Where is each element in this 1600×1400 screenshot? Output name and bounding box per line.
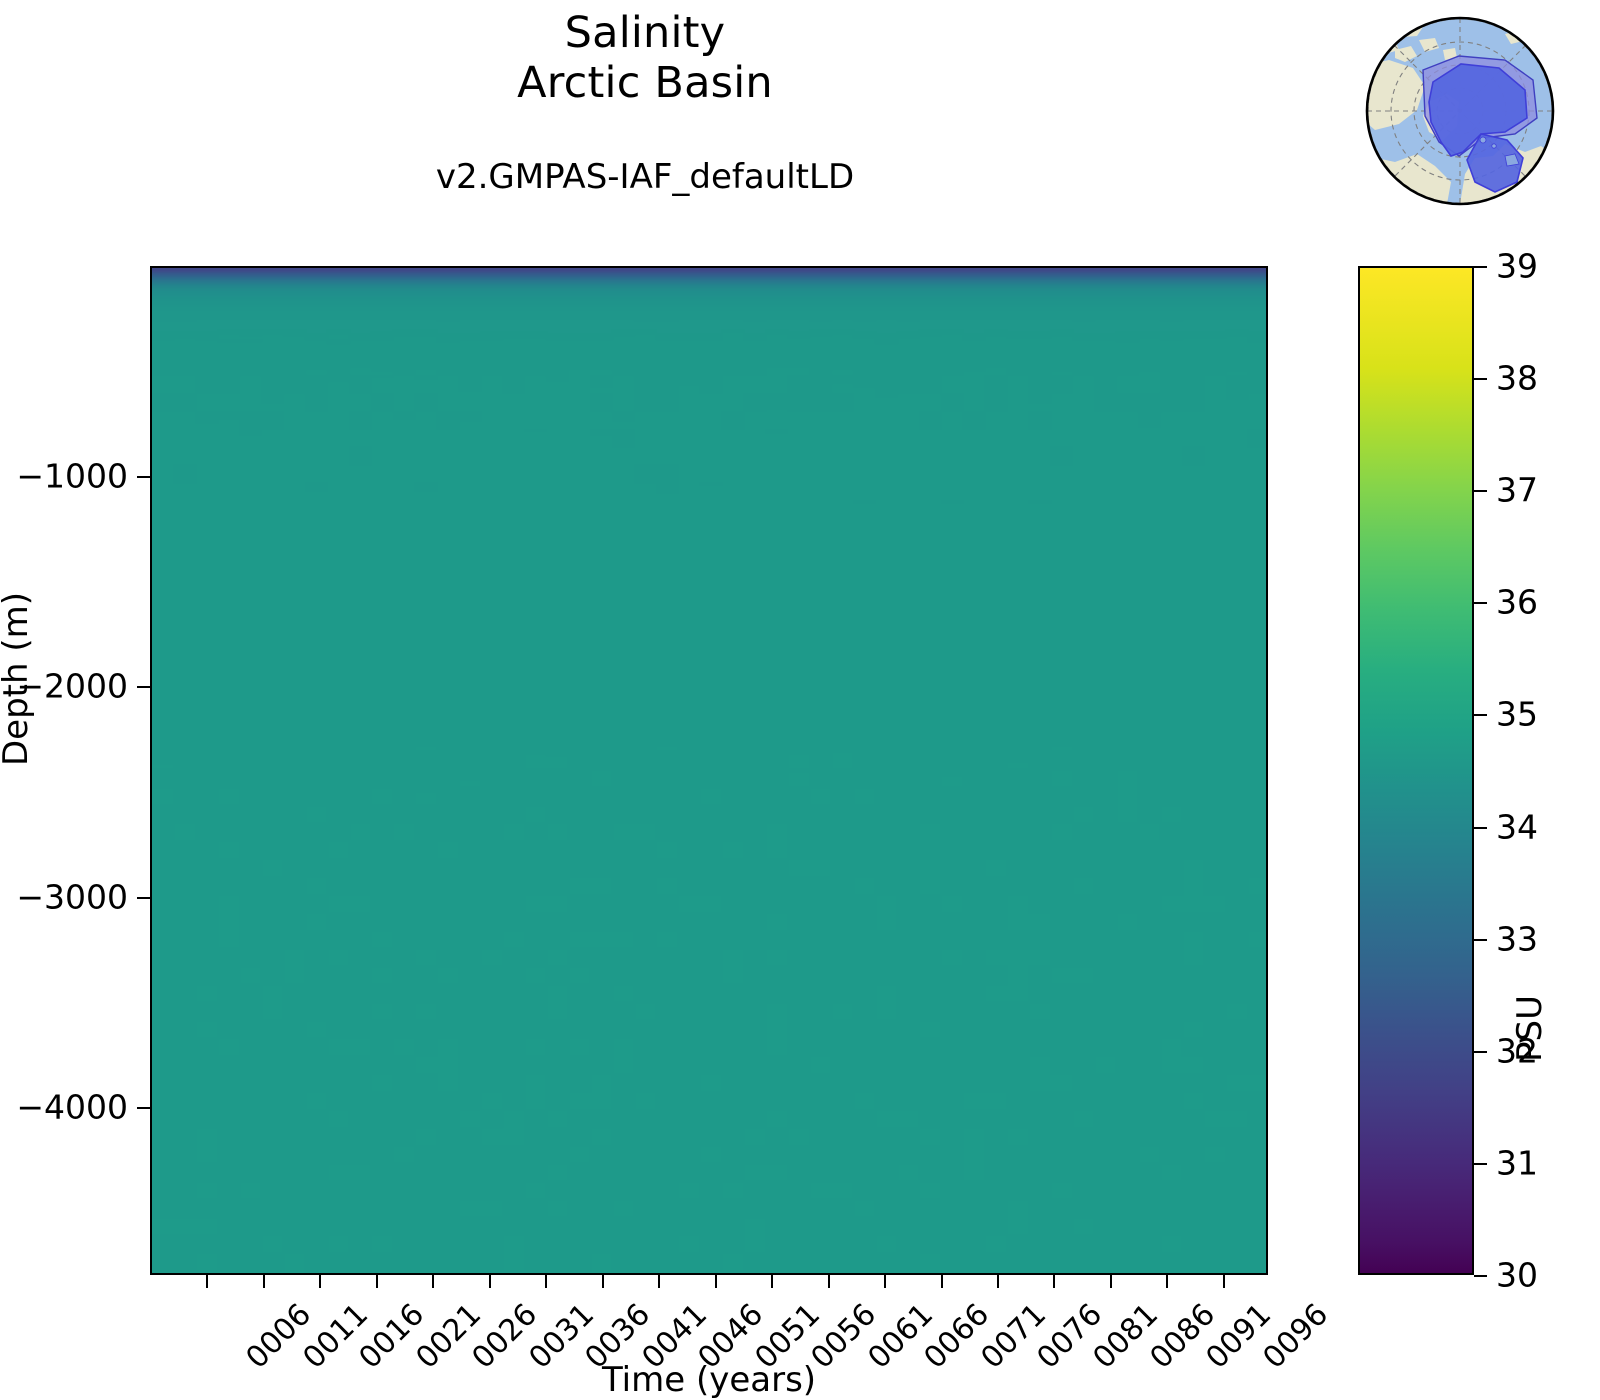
x-tick-mark [828, 1275, 830, 1288]
x-tick-mark [884, 1275, 886, 1288]
x-tick-mark [206, 1275, 208, 1288]
y-tick-mark [137, 897, 150, 899]
colorbar-gradient [1358, 266, 1474, 1275]
colorbar-tick-label: 37 [1496, 471, 1538, 510]
colorbar-tick-mark [1474, 714, 1487, 716]
x-tick-mark [319, 1275, 321, 1288]
x-tick-mark [997, 1275, 999, 1288]
arctic-region-inset-map [1355, 6, 1565, 216]
x-tick-mark [1223, 1275, 1225, 1288]
colorbar-tick-mark [1474, 1275, 1487, 1277]
y-tick-mark [137, 476, 150, 478]
x-tick-mark [1166, 1275, 1168, 1288]
colorbar-tick-mark [1474, 266, 1487, 268]
salinity-depth-time-heatmap[interactable] [150, 266, 1268, 1275]
title-variable: Salinity [0, 8, 1290, 58]
x-tick-mark [602, 1275, 604, 1288]
x-tick-mark [432, 1275, 434, 1288]
colorbar-tick-mark [1474, 1163, 1487, 1165]
x-tick-label: 0096 [1256, 1297, 1335, 1376]
x-tick-mark [771, 1275, 773, 1288]
colorbar-tick-label: 38 [1496, 359, 1538, 398]
colorbar-tick-mark [1474, 602, 1487, 604]
colorbar-tick-label: 36 [1496, 583, 1538, 622]
colorbar-tick-label: 34 [1496, 807, 1538, 846]
colorbar-tick-label: 33 [1496, 919, 1538, 958]
y-axis-label: Depth (m) [0, 592, 36, 766]
y-tick-label: −3000 [0, 877, 128, 916]
x-tick-mark [1053, 1275, 1055, 1288]
y-tick-label: −1000 [0, 457, 128, 496]
y-tick-label: −4000 [0, 1087, 128, 1126]
x-tick-mark [376, 1275, 378, 1288]
figure-canvas: Salinity Arctic Basin v2.GMPAS-IAF_defau… [0, 0, 1600, 1400]
colorbar-tick-mark [1474, 378, 1487, 380]
colorbar-label: PSU [1510, 995, 1550, 1062]
x-tick-mark [941, 1275, 943, 1288]
colorbar-tick-mark [1474, 490, 1487, 492]
y-tick-mark [137, 1107, 150, 1109]
colorbar-group[interactable]: 30313233343536373839 PSU [1358, 266, 1598, 1275]
heatmap-image [152, 268, 1266, 1273]
y-tick-mark [137, 686, 150, 688]
x-tick-mark [545, 1275, 547, 1288]
colorbar-tick-mark [1474, 1051, 1487, 1053]
title-region: Arctic Basin [0, 58, 1290, 108]
colorbar-tick-label: 39 [1496, 247, 1538, 286]
colorbar-tick-mark [1474, 939, 1487, 941]
x-tick-mark [263, 1275, 265, 1288]
x-axis-label: Time (years) [150, 1360, 1268, 1400]
x-tick-mark [489, 1275, 491, 1288]
colorbar-tick-mark [1474, 827, 1487, 829]
figure-title: Salinity Arctic Basin [0, 8, 1290, 108]
colorbar-tick-label: 35 [1496, 695, 1538, 734]
x-tick-mark [1110, 1275, 1112, 1288]
polar-map-svg [1355, 6, 1565, 216]
colorbar-tick-label: 30 [1496, 1256, 1538, 1295]
figure-subtitle-run-name: v2.GMPAS-IAF_defaultLD [0, 156, 1290, 198]
x-tick-mark [715, 1275, 717, 1288]
x-tick-mark [658, 1275, 660, 1288]
colorbar-tick-label: 31 [1496, 1143, 1538, 1182]
